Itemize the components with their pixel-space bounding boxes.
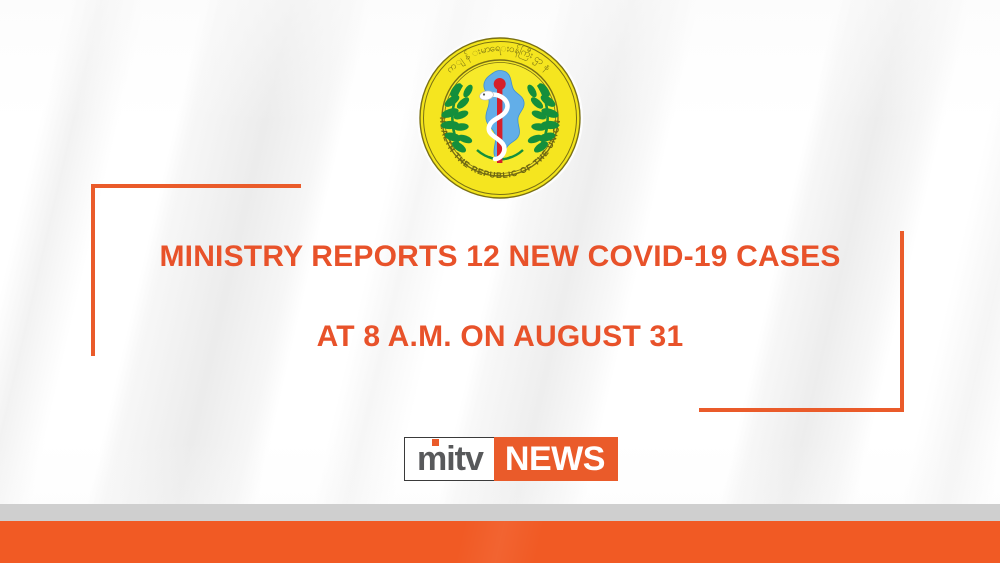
headline-line-1: MINISTRY REPORTS 12 NEW COVID-19 CASES bbox=[0, 238, 1000, 276]
headline: MINISTRY REPORTS 12 NEW COVID-19 CASES A… bbox=[0, 238, 1000, 355]
news-title-card: MINISTRY OF HEALTH THE REPUBLIC OF THE U… bbox=[0, 0, 1000, 563]
news-wordmark-box: NEWS bbox=[494, 437, 618, 481]
ministry-of-health-seal-icon: MINISTRY OF HEALTH THE REPUBLIC OF THE U… bbox=[415, 33, 585, 203]
mitv-wordmark: mitv bbox=[417, 442, 483, 476]
news-wordmark: NEWS bbox=[505, 442, 605, 476]
footer-bar-sheen bbox=[0, 521, 1000, 563]
headline-line-2: AT 8 A.M. ON AUGUST 31 bbox=[0, 318, 1000, 356]
mitv-news-logo: mitv NEWS bbox=[404, 437, 618, 481]
footer-gray-bar bbox=[0, 504, 1000, 521]
mitv-wordmark-box: mitv bbox=[404, 437, 494, 481]
mitv-i-dot-icon bbox=[432, 439, 439, 446]
